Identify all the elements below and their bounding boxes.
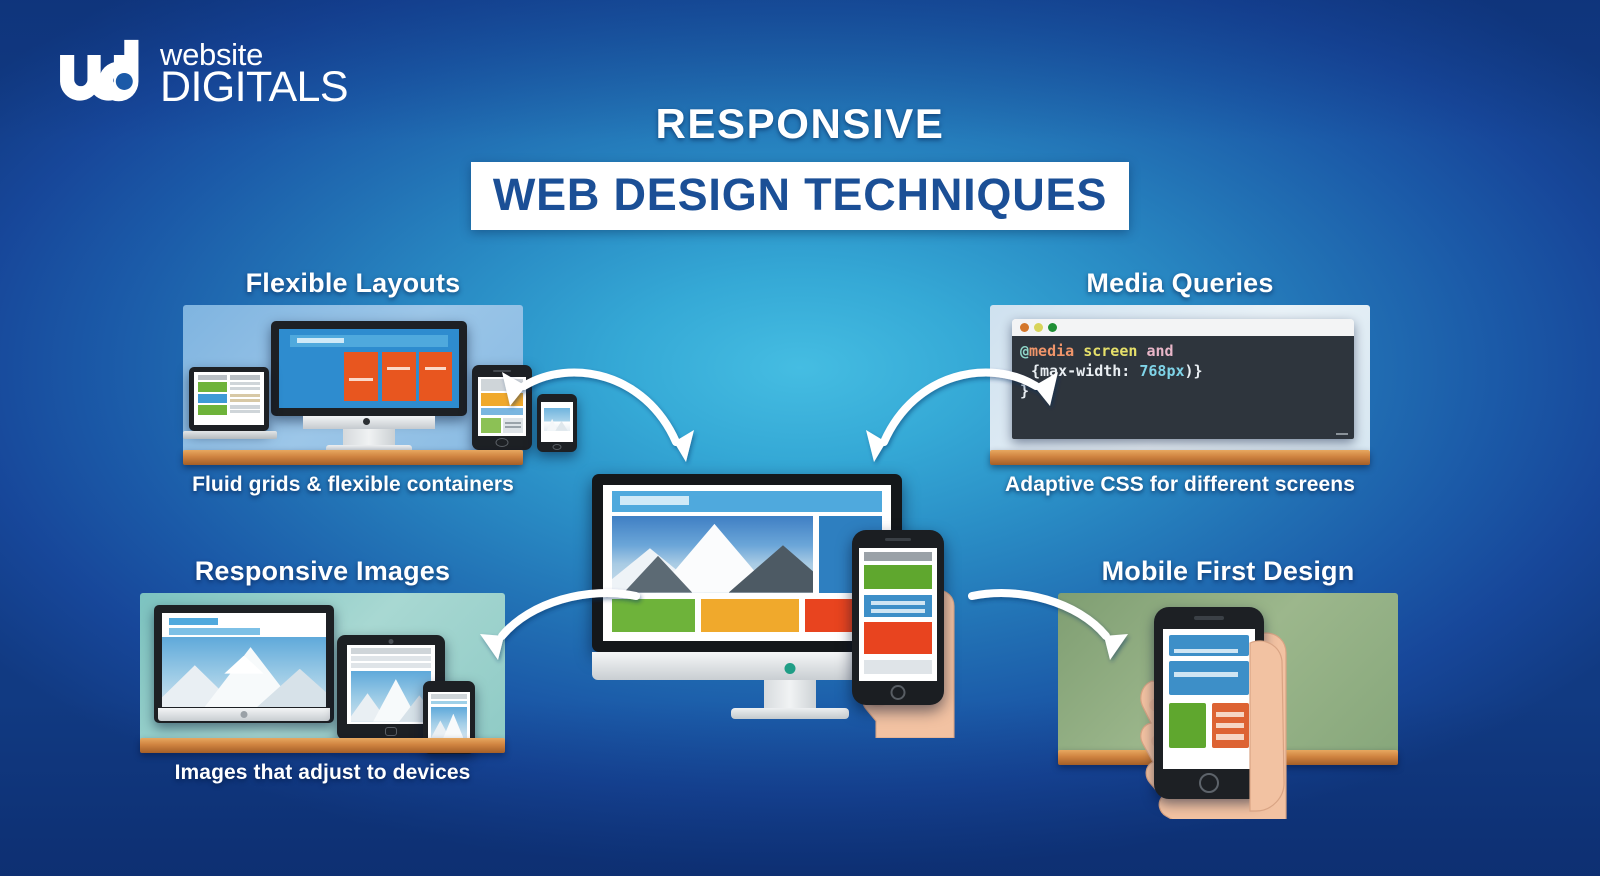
desktop-monitor [154,605,334,723]
center-monitor-power-led [785,663,796,674]
arrow-center-to-mobile-first [960,580,1140,670]
quadrant-caption-flexible-layouts: Fluid grids & flexible containers [183,473,523,497]
desktop-monitor [271,321,467,416]
flexible-layouts-scene [183,305,523,465]
code-window-titlebar [1012,319,1354,336]
arrow-center-to-media-queries [860,350,1080,470]
wooden-shelf [183,450,523,465]
center-monitor-base [731,708,849,719]
quadrant-heading-flexible-layouts: Flexible Layouts [183,268,523,299]
quadrant-heading-responsive-images: Responsive Images [140,556,505,587]
hand-fingers-front-icon [1244,633,1324,818]
traffic-light-close-icon[interactable] [1020,323,1029,332]
title-band: WEB DESIGN TECHNIQUES [471,162,1129,230]
phone-speaker-icon [885,538,911,541]
arrow-center-to-responsive-images [468,580,648,670]
responsive-images-scene [140,593,505,753]
quadrant-caption-responsive-images: Images that adjust to devices [140,761,505,785]
page-title: RESPONSIVE WEB DESIGN TECHNIQUES [0,100,1600,230]
title-line2: WEB DESIGN TECHNIQUES [493,169,1107,221]
quadrant-heading-media-queries: Media Queries [990,268,1370,299]
arrow-center-to-flexible-layouts [480,350,700,470]
wd-monogram-icon [56,38,151,106]
brand-logo[interactable]: website DIGITALS [56,38,348,106]
quadrant-responsive-images[interactable]: Responsive Images [140,556,505,785]
center-smartphone [852,530,944,705]
laptop [189,367,269,431]
traffic-light-minimize-icon[interactable] [1034,323,1043,332]
quadrant-flexible-layouts[interactable]: Flexible Layouts [183,268,523,497]
center-monitor-stand [764,680,816,710]
title-line1: RESPONSIVE [0,100,1600,148]
phone-home-button[interactable] [891,685,906,700]
center-phone-screen [859,548,937,681]
traffic-light-maximize-icon[interactable] [1048,323,1057,332]
code-cursor-icon [1336,433,1348,435]
wooden-shelf [140,738,505,753]
infographic-canvas: website DIGITALS RESPONSIVE WEB DESIGN T… [0,0,1600,876]
